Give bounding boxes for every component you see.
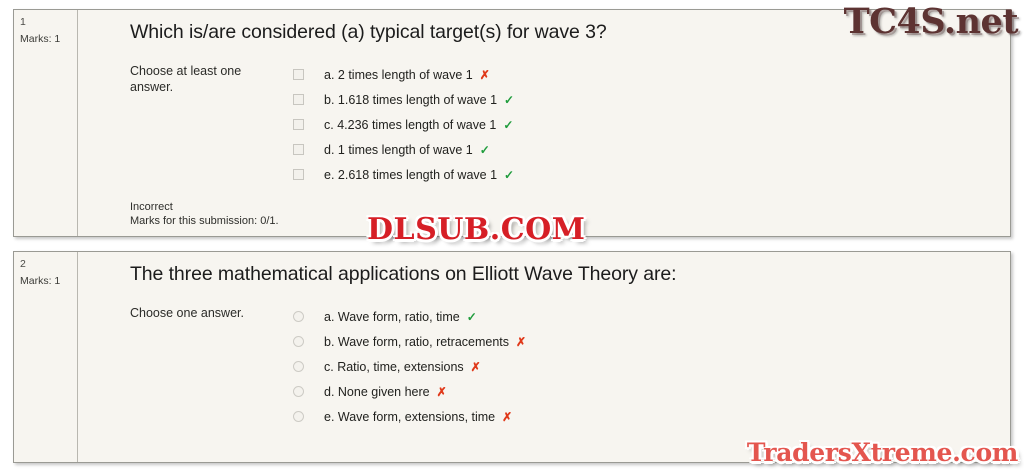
question-panel-1: 1 Marks: 1 Which is/are considered (a) t… (13, 9, 1011, 237)
answer-list-1: a. 2 times length of wave 1 ✗ b. 1.618 t… (262, 62, 1010, 187)
answer-label: d. None given here (315, 384, 430, 400)
radio-icon[interactable] (293, 361, 304, 372)
radio-wrapper[interactable] (293, 386, 315, 397)
question-number: 1 (20, 16, 77, 29)
question-title: Which is/are considered (a) typical targ… (78, 10, 1010, 44)
answer-label: c. 4.236 times length of wave 1 (315, 117, 496, 133)
question-content: Choose one answer. a. Wave form, ratio, … (78, 286, 1010, 429)
answer-option[interactable]: a. Wave form, ratio, time ✓ (293, 304, 1010, 329)
answer-list-2: a. Wave form, ratio, time ✓ b. Wave form… (262, 304, 1010, 429)
answer-option[interactable]: d. 1 times length of wave 1 ✓ (293, 137, 1010, 162)
answer-option[interactable]: c. 4.236 times length of wave 1 ✓ (293, 112, 1010, 137)
question-marks: Marks: 1 (20, 274, 77, 288)
answer-option[interactable]: d. None given here ✗ (293, 379, 1010, 404)
check-icon: ✓ (504, 93, 514, 107)
answer-label: e. Wave form, extensions, time (315, 409, 495, 425)
answer-option[interactable]: b. 1.618 times length of wave 1 ✓ (293, 87, 1010, 112)
cross-icon: ✗ (471, 360, 481, 374)
check-icon: ✓ (503, 118, 513, 132)
question-body-2: The three mathematical applications on E… (78, 252, 1010, 462)
radio-wrapper[interactable] (293, 411, 315, 422)
answer-label: e. 2.618 times length of wave 1 (315, 167, 497, 183)
question-panel-2: 2 Marks: 1 The three mathematical applic… (13, 251, 1011, 463)
quiz-page: 1 Marks: 1 Which is/are considered (a) t… (0, 0, 1024, 473)
answer-instruction: Choose one answer. (130, 304, 262, 429)
radio-icon[interactable] (293, 386, 304, 397)
question-info-2: 2 Marks: 1 (14, 252, 78, 462)
question-number: 2 (20, 258, 77, 271)
checkbox-wrapper[interactable] (293, 119, 315, 130)
answer-label: a. 2 times length of wave 1 (315, 67, 473, 83)
check-icon: ✓ (467, 310, 477, 324)
cross-icon: ✗ (516, 335, 526, 349)
radio-icon[interactable] (293, 311, 304, 322)
checkbox-icon[interactable] (293, 69, 304, 80)
cross-icon: ✗ (502, 410, 512, 424)
checkbox-wrapper[interactable] (293, 169, 315, 180)
radio-wrapper[interactable] (293, 336, 315, 347)
question-feedback-1: Incorrect Marks for this submission: 0/1… (78, 187, 1010, 228)
answer-option[interactable]: c. Ratio, time, extensions ✗ (293, 354, 1010, 379)
answer-label: b. Wave form, ratio, retracements (315, 334, 509, 350)
checkbox-wrapper[interactable] (293, 69, 315, 80)
cross-icon: ✗ (437, 385, 447, 399)
check-icon: ✓ (480, 143, 490, 157)
checkbox-icon[interactable] (293, 144, 304, 155)
answer-label: c. Ratio, time, extensions (315, 359, 464, 375)
checkbox-wrapper[interactable] (293, 94, 315, 105)
radio-icon[interactable] (293, 411, 304, 422)
cross-icon: ✗ (480, 68, 490, 82)
answer-label: d. 1 times length of wave 1 (315, 142, 473, 158)
checkbox-icon[interactable] (293, 94, 304, 105)
radio-wrapper[interactable] (293, 311, 315, 322)
check-icon: ✓ (504, 168, 514, 182)
checkbox-icon[interactable] (293, 119, 304, 130)
radio-wrapper[interactable] (293, 361, 315, 372)
checkbox-wrapper[interactable] (293, 144, 315, 155)
radio-icon[interactable] (293, 336, 304, 347)
answer-option[interactable]: b. Wave form, ratio, retracements ✗ (293, 329, 1010, 354)
feedback-status: Incorrect (130, 200, 1010, 214)
question-marks: Marks: 1 (20, 32, 77, 46)
answer-option[interactable]: e. Wave form, extensions, time ✗ (293, 404, 1010, 429)
answer-option[interactable]: a. 2 times length of wave 1 ✗ (293, 62, 1010, 87)
feedback-marks: Marks for this submission: 0/1. (130, 214, 1010, 228)
answer-option[interactable]: e. 2.618 times length of wave 1 ✓ (293, 162, 1010, 187)
question-body-1: Which is/are considered (a) typical targ… (78, 10, 1010, 236)
answer-instruction: Choose at least one answer. (130, 62, 262, 187)
checkbox-icon[interactable] (293, 169, 304, 180)
answer-label: b. 1.618 times length of wave 1 (315, 92, 497, 108)
answer-label: a. Wave form, ratio, time (315, 309, 460, 325)
question-info-1: 1 Marks: 1 (14, 10, 78, 236)
question-content: Choose at least one answer. a. 2 times l… (78, 44, 1010, 187)
question-title: The three mathematical applications on E… (78, 252, 1010, 286)
